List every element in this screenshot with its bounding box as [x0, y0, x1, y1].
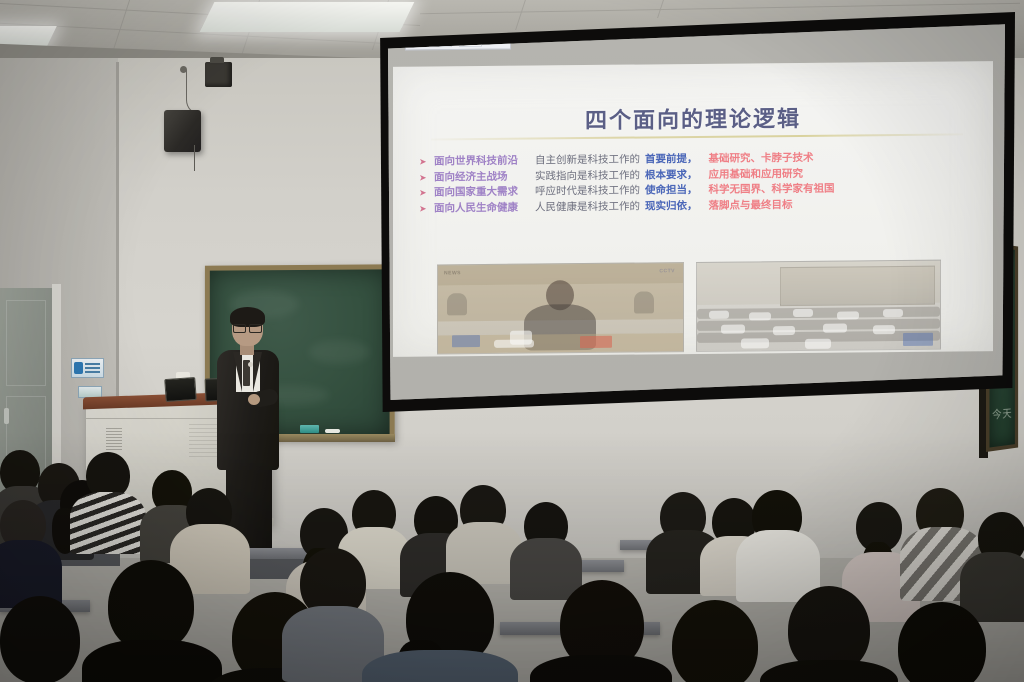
- ceiling-light-panel: [200, 2, 415, 32]
- lectern-vents: [106, 428, 122, 450]
- bullet-arrow-icon: ➤: [419, 156, 429, 171]
- ceiling-light-panel: [0, 26, 57, 46]
- bullet-arrow-icon: ➤: [419, 187, 429, 202]
- bullet-highlight: 根本要求，: [645, 167, 698, 182]
- projection-screen[interactable]: 播放 — × 0:06:51 / 0:18:01 四个面向的理论逻辑 ➤ 面向世…: [383, 22, 1005, 400]
- bullet-note: 落脚点与最终目标: [709, 198, 793, 213]
- student-body: [760, 660, 898, 682]
- bullet-middle: 自主创新是科技工作的: [535, 153, 640, 169]
- student-head: [672, 600, 758, 682]
- slide-photo-conference-hall: [696, 260, 941, 352]
- side-chalk-line: 今天: [992, 408, 1012, 421]
- classroom-scene: 小明 创新 动力 今天 播放 — × 0:06:51 / 0:18:01: [0, 0, 1024, 682]
- wall-notice-sign: [71, 358, 104, 378]
- bullet-arrow-icon: ➤: [419, 202, 429, 217]
- bullet-highlight: 首要前提，: [645, 152, 698, 167]
- lectern-monitor[interactable]: [164, 377, 197, 402]
- student-body: [530, 655, 672, 682]
- slide-bullet-list: ➤ 面向世界科技前沿 自主创新是科技工作的 首要前提， 基础研究、卡脖子技术 ➤…: [419, 149, 979, 216]
- bullet-highlight: 使命担当，: [645, 183, 698, 198]
- bullet-key: 面向世界科技前沿: [434, 154, 530, 169]
- student-head: [108, 560, 194, 652]
- lecturer-lapel: [253, 352, 262, 392]
- bullet-note: 应用基础和应用研究: [709, 166, 804, 181]
- slide-title: 四个面向的理论逻辑: [393, 99, 993, 137]
- bullet-note: 基础研究、卡脖子技术: [709, 151, 814, 167]
- bullet-key: 面向国家重大需求: [434, 185, 530, 200]
- cctv-logo-right: CCTV: [659, 268, 675, 274]
- news-logo-left: NEWS: [444, 270, 461, 276]
- student-body: [70, 492, 146, 554]
- student-body: [510, 538, 582, 600]
- bullet-key: 面向经济主战场: [434, 169, 530, 184]
- lecturer-lapel: [233, 352, 242, 392]
- wall-speaker: [164, 110, 201, 152]
- bullet-middle: 实践指向是科技工作的: [535, 168, 640, 184]
- lapel-microphone: [248, 362, 253, 367]
- bullet-middle: 人民健康是科技工作的: [535, 199, 640, 215]
- bullet-highlight: 现实归依，: [645, 198, 698, 213]
- glasses-icon: [233, 324, 262, 331]
- bullet-note: 科学无国界、科学家有祖国: [709, 182, 835, 198]
- chalk-stick[interactable]: [325, 429, 340, 433]
- student-body: [362, 650, 518, 682]
- powerpoint-slide[interactable]: 四个面向的理论逻辑 ➤ 面向世界科技前沿 自主创新是科技工作的 首要前提， 基础…: [393, 61, 993, 357]
- door-panel: [6, 300, 46, 386]
- student-head: [0, 596, 80, 682]
- lecturer-hand: [248, 394, 260, 405]
- slide-photo-cctv-news: NEWS CCTV: [437, 262, 684, 354]
- bullet-middle: 呼应时代是科技工作的: [535, 184, 640, 200]
- bullet-key: 面向人民生命健康: [434, 200, 530, 215]
- bullet-arrow-icon: ➤: [419, 171, 429, 186]
- student-body: [82, 640, 222, 682]
- board-eraser[interactable]: [300, 425, 319, 433]
- speaker-wire: [186, 70, 201, 115]
- door-handle[interactable]: [4, 408, 9, 424]
- speaker-bracket: [205, 62, 232, 87]
